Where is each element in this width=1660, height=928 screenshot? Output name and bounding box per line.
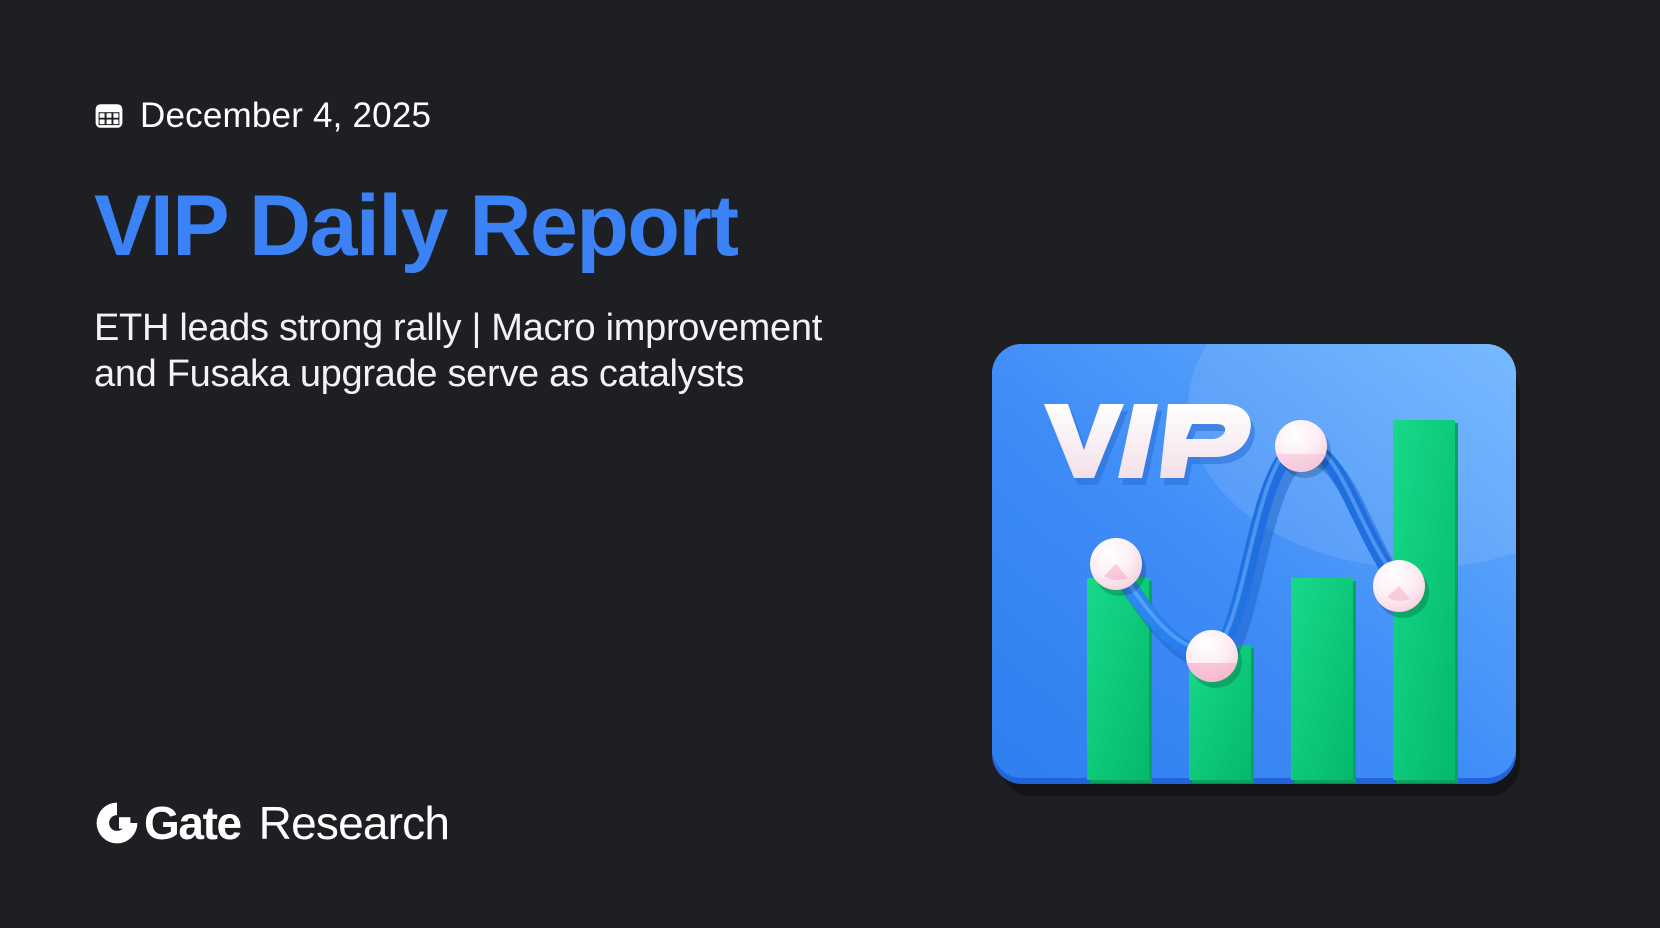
brand-lockup: Gate Research — [94, 800, 449, 846]
calendar-icon — [94, 101, 124, 131]
report-date: December 4, 2025 — [140, 98, 431, 133]
page-title: VIP Daily Report — [94, 181, 738, 271]
page-subtitle: ETH leads strong rally | Macro improveme… — [94, 305, 924, 398]
date-row: December 4, 2025 — [94, 98, 431, 133]
gate-logo-icon — [94, 800, 140, 846]
vip-chart-card-illustration — [988, 338, 1536, 800]
brand-suffix: Research — [259, 800, 449, 846]
subtitle-line-1: ETH leads strong rally | Macro improveme… — [94, 305, 924, 351]
bar-3 — [1291, 578, 1356, 783]
brand-name: Gate — [144, 800, 241, 846]
text-column: December 4, 2025 VIP Daily Report ETH le… — [94, 0, 954, 928]
subtitle-line-2: and Fusaka upgrade serve as catalysts — [94, 351, 924, 397]
vip-daily-report-poster: December 4, 2025 VIP Daily Report ETH le… — [0, 0, 1660, 928]
